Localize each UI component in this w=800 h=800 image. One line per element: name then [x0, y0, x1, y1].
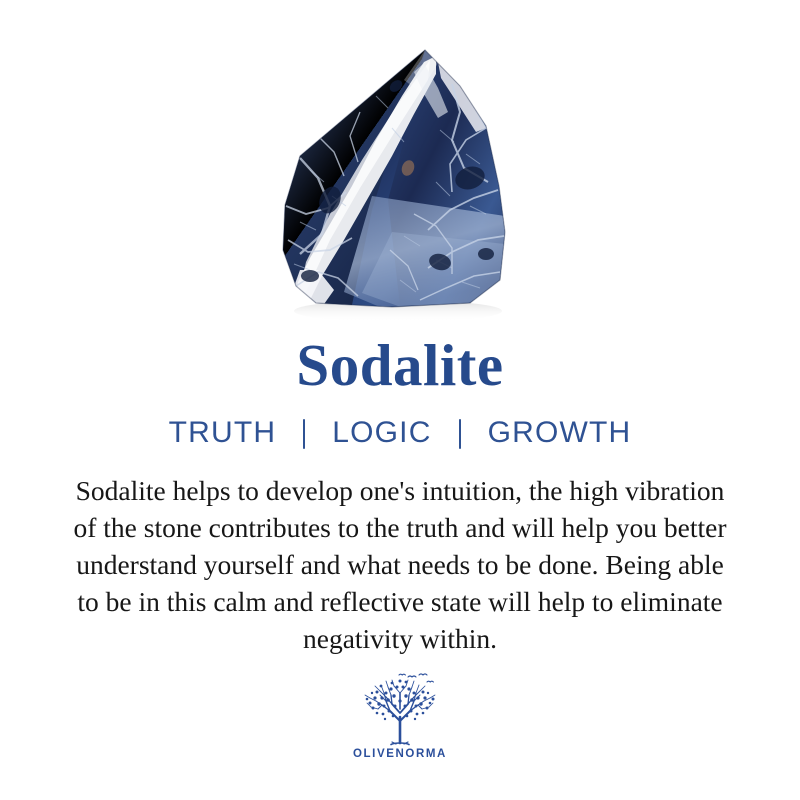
keyword-logic: LOGIC	[332, 416, 431, 450]
tree-of-life-icon	[358, 673, 442, 747]
page-title: Sodalite	[296, 336, 503, 395]
description-line: understand yourself and what needs to be…	[24, 546, 776, 583]
description-paragraph: Sodalite helps to develop one's intuitio…	[24, 472, 776, 657]
sodalite-crystal-point-photo	[0, 0, 800, 330]
brand-logo: OLIVENORMA	[353, 673, 447, 760]
description-line: negativity within.	[24, 620, 776, 657]
sodalite-info-card: Sodalite TRUTH LOGIC GROWTH Sodalite hel…	[0, 0, 800, 800]
description-line: of the stone contributes to the truth an…	[24, 509, 776, 546]
keyword-row: TRUTH LOGIC GROWTH	[169, 416, 632, 450]
keyword-truth: TRUTH	[169, 416, 277, 450]
keyword-separator-2	[459, 419, 461, 449]
description-line: to be in this calm and reflective state …	[24, 583, 776, 620]
hero-image-area	[0, 0, 800, 330]
description-line: Sodalite helps to develop one's intuitio…	[24, 472, 776, 509]
brand-wordmark: OLIVENORMA	[353, 748, 447, 760]
keyword-separator-1	[303, 419, 305, 449]
keyword-growth: GROWTH	[488, 416, 632, 450]
